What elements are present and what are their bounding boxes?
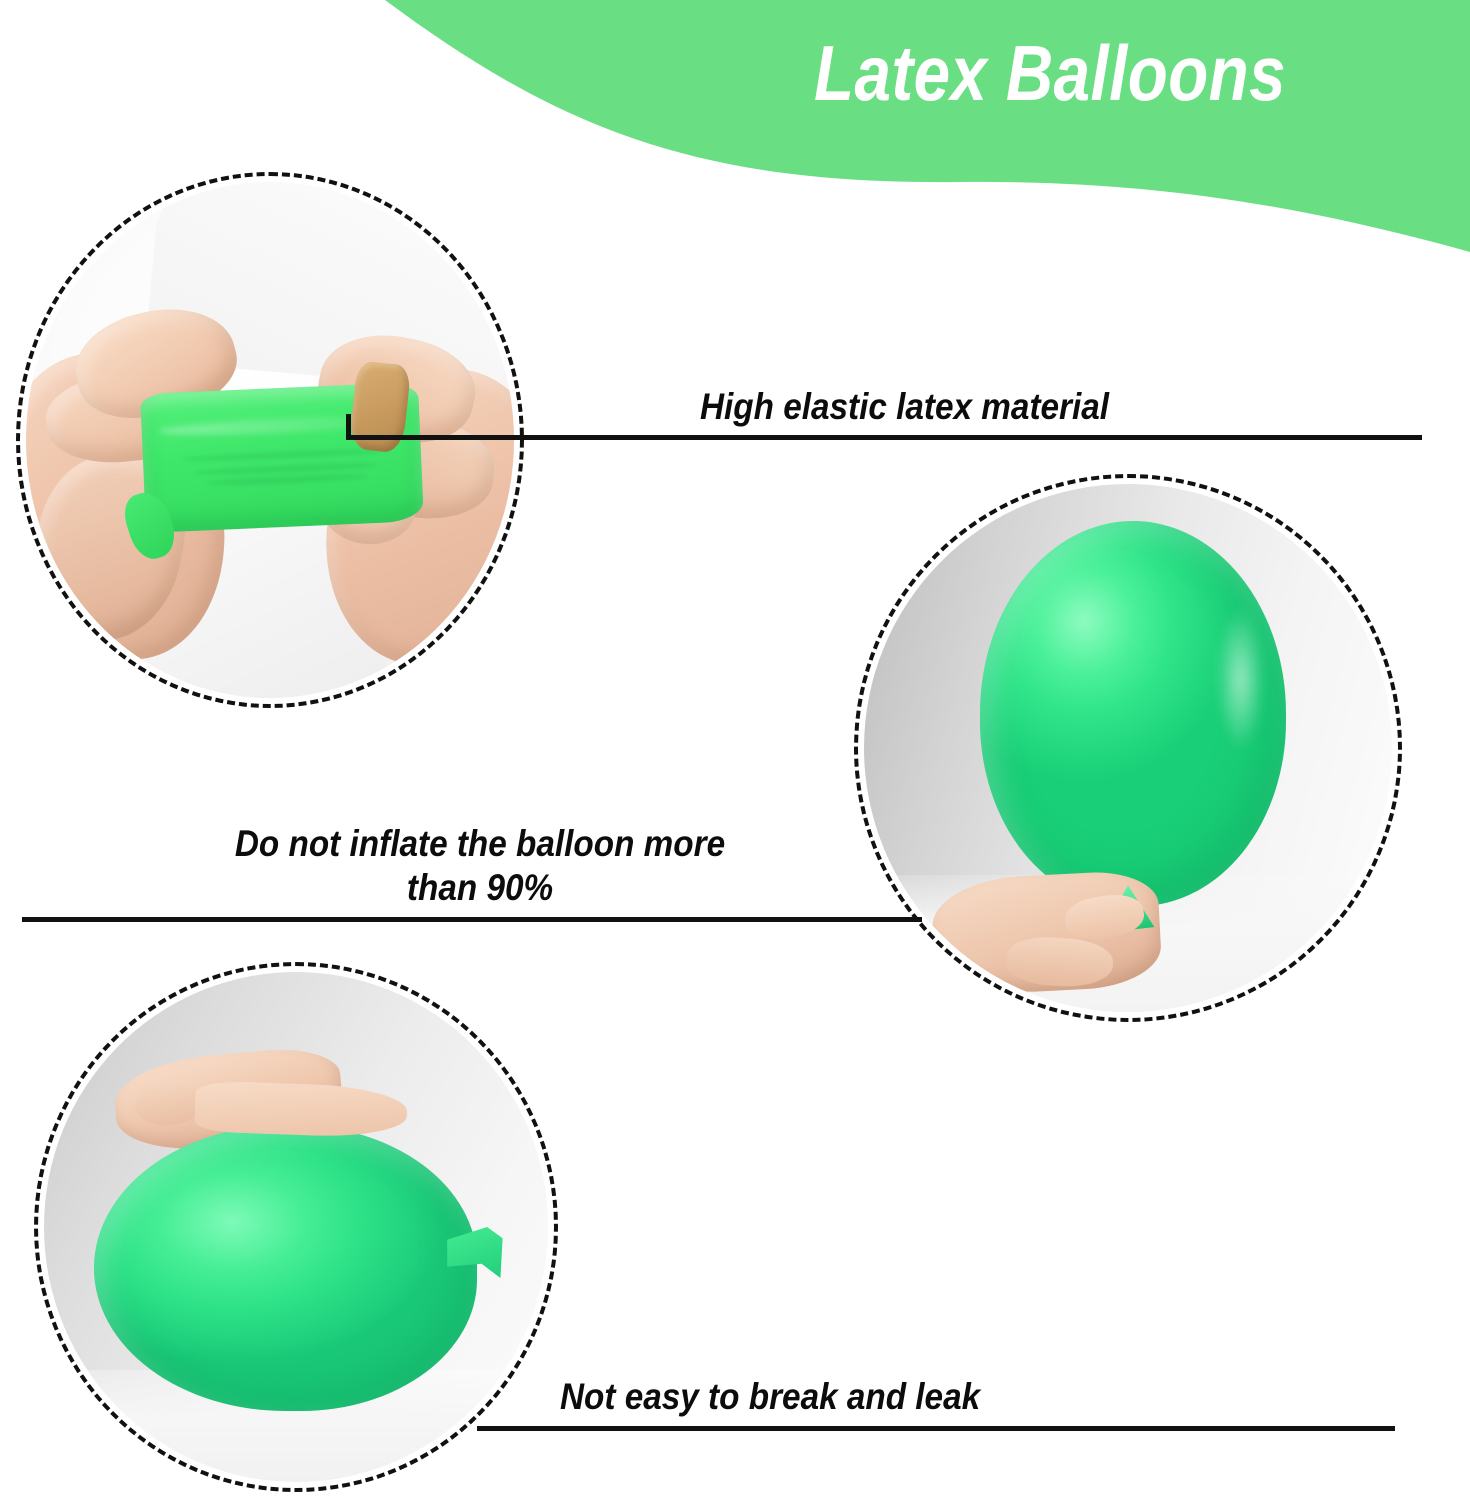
photo-frame: [26, 182, 514, 698]
callout-rule-inflate-limit: [22, 917, 922, 922]
photo-hands-stretching-balloon: [26, 182, 514, 698]
feature-label-inflate-limit: Do not inflate the balloon more than 90%: [84, 822, 876, 909]
callout-rule-durable: [477, 1426, 1395, 1431]
feature-label-line-2: than 90%: [84, 866, 876, 910]
balloon-ripple-3: [205, 474, 366, 487]
photo-hand-pressing-balloon: [44, 972, 548, 1482]
feature-label-durable: Not easy to break and leak: [560, 1375, 1298, 1419]
inflated-balloon: [980, 521, 1286, 906]
infographic-page: Latex Balloons: [0, 0, 1470, 1500]
squashed-balloon: [94, 1125, 477, 1411]
feature-label-elastic: High elastic latex material: [700, 385, 1330, 429]
feature-label-line-1: Do not inflate the balloon more: [84, 822, 876, 866]
callout-rule-elastic: [346, 435, 1422, 440]
photo-circle-elastic: [16, 172, 524, 708]
balloon-ripple-1: [182, 448, 388, 463]
photo-circle-inflated: [854, 474, 1402, 1022]
photo-frame: [44, 972, 548, 1482]
photo-hand-holding-inflated-balloon: [864, 484, 1392, 1012]
balloon-ripple-2: [194, 462, 378, 476]
photo-circle-durable: [34, 962, 558, 1492]
page-title: Latex Balloons: [748, 33, 1353, 115]
photo-frame: [864, 484, 1392, 1012]
